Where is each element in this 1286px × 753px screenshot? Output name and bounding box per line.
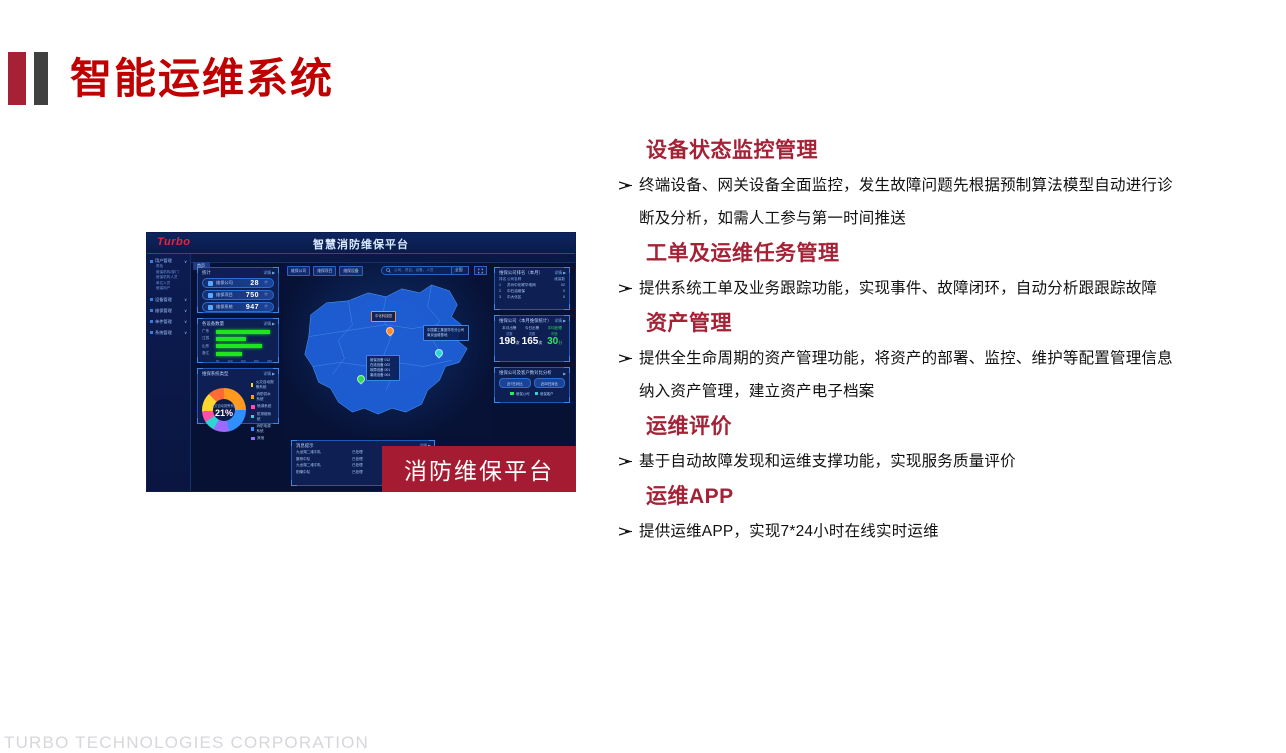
- stat-row: 维保项目 750 个: [202, 290, 274, 300]
- legend-swatch: [251, 383, 253, 387]
- arrow-bullet-icon: [617, 169, 639, 190]
- donut-center-value: 21%: [215, 408, 233, 418]
- expand-icon: [478, 268, 483, 274]
- search-icon: [386, 268, 391, 273]
- section-bullet-text: 终端设备、网关设备全面监控，发生故障问题先根据预制算法模型自动进行诊断及分析，如…: [639, 169, 1187, 235]
- stat-label: 维保系统: [216, 304, 233, 310]
- map-filter-device[interactable]: 维保设备: [339, 266, 362, 276]
- donut-panel: 维保系统类型 详情 ▶ 火灾自动报警系统 21% 火灾自动报警系统 消防供水系统…: [197, 368, 279, 424]
- user-icon: [208, 305, 213, 310]
- legend-swatch: [510, 392, 514, 396]
- kpi-panel-title: 维保公司（本月维保统计）: [499, 318, 552, 324]
- sidebar-item-label: 设备管理: [155, 297, 172, 303]
- bar-chart-panel: 各设备数量 详情 ▶ 广东 江苏 山东 浙江 50 100 150 200 25…: [197, 318, 279, 363]
- bar-more-link[interactable]: 详情 ▶: [263, 321, 275, 327]
- toggle-7day[interactable]: 近7日对比: [499, 378, 531, 388]
- map-tooltip-green: 维保设备 012 在线设备 002 故障设备 001 离线设备 004: [366, 355, 400, 381]
- kpi-item: 本月出警 次数 198次: [498, 326, 521, 347]
- map-fullscreen-button[interactable]: [474, 266, 487, 275]
- section-heading: 运维APP: [646, 480, 1187, 514]
- sidebar-item-label: 系统管理: [155, 330, 172, 336]
- sidebar-group-order[interactable]: 单件管理 ∨: [150, 319, 187, 325]
- sidebar-item-label: 单件管理: [155, 319, 172, 325]
- rank-no: 3: [499, 294, 507, 300]
- stat-label: 维保公司: [216, 280, 233, 286]
- chevron-down-icon: ∨: [184, 308, 187, 313]
- map-filter-project[interactable]: 维保项目: [313, 266, 336, 276]
- legend-swatch: [251, 427, 254, 431]
- legend-label: 维保公司: [516, 392, 530, 396]
- slide-title-block: 智能运维系统: [8, 52, 334, 105]
- bar-row: 江苏: [202, 336, 274, 341]
- sidebar-group-user[interactable]: 用户管理 ∨ 角色 维保机构/部门 维保机构人员 单位人员 维保用户: [150, 258, 187, 292]
- kpi-unit: 次: [538, 340, 542, 345]
- bar-panel-title: 各设备数量: [202, 321, 224, 327]
- dashboard-title: 智慧消防维保平台: [147, 236, 575, 252]
- stat-value: 750: [246, 292, 259, 299]
- axis-tick: 150: [241, 359, 246, 363]
- toggle-30day[interactable]: 近30日对比: [534, 378, 566, 388]
- caption-banner: 消防维保平台: [382, 446, 576, 492]
- dashboard-header: Turbo 智慧消防维保平台: [147, 233, 575, 254]
- axis-tick: 50: [216, 359, 219, 363]
- section-bullet-text: 提供运维APP，实现7*24小时在线实时运维: [639, 515, 1187, 548]
- page-title: 智能运维系统: [70, 52, 334, 105]
- footer-brand: TURBO TECHNOLOGIES CORPORATION: [4, 733, 369, 753]
- sidebar-sub-item[interactable]: 维保用户: [150, 286, 187, 292]
- kpi-value: 198次: [498, 336, 521, 347]
- kpi-unit: 次: [516, 340, 520, 345]
- menu-icon: [150, 260, 153, 263]
- map-search-input[interactable]: 公司、项目、设备、人员: [381, 266, 455, 275]
- sidebar-group-device[interactable]: 设备管理 ∨: [150, 297, 187, 303]
- bar-label: 广东: [202, 329, 213, 334]
- legend-label: 其他: [257, 436, 264, 441]
- kpi-panel: 维保公司（本月维保统计） 详情 ▶ 本月出警 次数 198次 今日出警 次数 1…: [494, 315, 570, 362]
- section-bullet-text: 基于自动故障发现和运维支撑功能，实现服务质量评价: [639, 445, 1187, 478]
- legend-label: 消防供水系统: [256, 392, 274, 402]
- bar-label: 浙江: [202, 351, 213, 356]
- section-bullet-text: 提供全生命周期的资产管理功能，将资产的部署、监控、维护等配置管理信息纳入资产管理…: [639, 342, 1187, 408]
- bar-label: 山东: [202, 344, 213, 349]
- kpi-unit: 分: [558, 340, 562, 345]
- tooltip-line: 南京运维基地: [427, 333, 465, 338]
- arrow-bullet-icon: [617, 272, 639, 293]
- table-row: 3 中大化区 0: [495, 294, 569, 300]
- feature-section: 运维评价 基于自动故障发现和运维支撑功能，实现服务质量评价: [617, 410, 1187, 478]
- arrow-bullet-icon: [617, 515, 639, 536]
- kpi-more-link[interactable]: 详情 ▶: [554, 318, 566, 324]
- legend-label: 防排烟系统: [257, 412, 274, 422]
- compare-panel-title: 维保公司及客户数对比分析: [499, 370, 552, 376]
- rank-count: 0: [551, 294, 565, 300]
- map-region-select[interactable]: 全国: [451, 266, 469, 275]
- bar-row: 山东: [202, 344, 274, 349]
- stat-unit: 个: [264, 304, 268, 310]
- compare-toggles[interactable]: 近7日对比 近30日对比: [495, 376, 569, 390]
- bar-label: 江苏: [202, 336, 213, 341]
- donut-legend: 火灾自动报警系统 消防供水系统 喷淋系统 防排烟系统 消防电源系统 其他: [251, 380, 274, 441]
- legend-item: 维保客户: [535, 391, 554, 396]
- gear-icon: [150, 331, 153, 334]
- legend-item: 消防电源系统: [251, 424, 274, 434]
- chevron-down-icon: ∨: [184, 330, 187, 335]
- bar-chart: 广东 江苏 山东 浙江 50 100 150 200 250: [198, 327, 278, 363]
- kpi-value: 165次: [521, 336, 544, 347]
- legend-item: 火灾自动报警系统: [251, 380, 274, 390]
- stat-row: 维保系统 947 个: [202, 302, 274, 312]
- title-accent-bar-gray: [34, 52, 48, 105]
- legend-item: 维保公司: [510, 391, 529, 396]
- stats-panel: 统计 详情 ▶ 维保公司 28 个 维保项目 750 个 维保系统 947 个: [197, 267, 279, 313]
- china-map[interactable]: 维保公司 维保项目 维保设备 公司、项目、设备、人员 全国 中化科技园 中国建工…: [283, 263, 491, 437]
- stat-unit: 个: [264, 280, 268, 286]
- legend-item: 防排烟系统: [251, 412, 274, 422]
- order-icon: [150, 320, 153, 323]
- feature-section: 工单及运维任务管理 提供系统工单及业务跟踪功能，实现事件、故障闭环，自动分析跟跟…: [617, 237, 1187, 305]
- chevron-down-icon: ∨: [184, 297, 187, 302]
- feature-sections: 设备状态监控管理 终端设备、网关设备全面监控，发生故障问题先根据预制算法模型自动…: [617, 134, 1187, 550]
- donut-panel-title: 维保系统类型: [202, 371, 228, 377]
- kpi-item: 今日出警 次数 165次: [521, 326, 544, 347]
- section-heading: 资产管理: [646, 307, 1187, 341]
- stats-more-link[interactable]: 详情 ▶: [263, 270, 275, 276]
- bar-row: 广东: [202, 329, 274, 334]
- building-icon: [208, 281, 213, 286]
- kpi-value: 30分: [543, 336, 566, 347]
- donut-more-link[interactable]: 详情 ▶: [263, 371, 275, 377]
- map-tooltip-orange: 中化科技园: [371, 311, 396, 322]
- stat-row: 维保公司 28 个: [202, 278, 274, 288]
- rank-panel: 维保公司排名（本月） 详情 ▶ 排名 公司名称 维保数 1 苏州中化联华电网 0…: [494, 267, 570, 310]
- feature-section: 资产管理 提供全生命周期的资产管理功能，将资产的部署、监控、维护等配置管理信息纳…: [617, 307, 1187, 408]
- feature-section: 设备状态监控管理 终端设备、网关设备全面监控，发生故障问题先根据预制算法模型自动…: [617, 134, 1187, 235]
- msg-source: 阳曦中队: [296, 469, 352, 476]
- map-search-placeholder: 公司、项目、设备、人员: [394, 268, 434, 273]
- compare-more-link[interactable]: ▶: [563, 371, 566, 376]
- device-icon: [150, 298, 153, 301]
- map-filter-company[interactable]: 维保公司: [287, 266, 310, 276]
- stat-unit: 个: [264, 292, 268, 298]
- legend-item: 其他: [251, 436, 274, 441]
- legend-swatch: [251, 405, 255, 409]
- legend-label: 消防电源系统: [256, 424, 274, 434]
- dashboard-sidebar[interactable]: 用户管理 ∨ 角色 维保机构/部门 维保机构人员 单位人员 维保用户 设备管理 …: [147, 254, 191, 492]
- rank-company: 中大化区: [507, 294, 551, 300]
- legend-label: 维保客户: [540, 392, 554, 396]
- legend-label: 火灾自动报警系统: [256, 380, 274, 390]
- donut-chart: 火灾自动报警系统 21%: [202, 388, 246, 432]
- stats-panel-title: 统计: [202, 270, 211, 276]
- map-filters[interactable]: 维保公司 维保项目 维保设备: [287, 266, 363, 276]
- dashboard-tabstrip[interactable]: 首页: [191, 254, 575, 263]
- stat-label: 维保项目: [216, 292, 233, 298]
- stat-value: 947: [246, 304, 259, 311]
- sidebar-group-system[interactable]: 系统管理 ∨: [150, 330, 187, 336]
- tooltip-line: 离线设备 004: [370, 373, 396, 378]
- title-accent-bar-red: [8, 52, 26, 105]
- arrow-bullet-icon: [617, 445, 639, 466]
- home-icon: [208, 293, 213, 298]
- sidebar-group-maint[interactable]: 维保管理 ∨: [150, 308, 187, 314]
- wrench-icon: [150, 309, 153, 312]
- legend-item: 消防供水系统: [251, 392, 274, 402]
- compare-panel: 维保公司及客户数对比分析 ▶ 近7日对比 近30日对比 维保公司 维保客户: [494, 367, 570, 403]
- compare-legend: 维保公司 维保客户: [495, 390, 569, 396]
- chevron-down-icon: ∨: [184, 319, 187, 324]
- legend-label: 喷淋系统: [257, 404, 271, 409]
- section-heading: 工单及运维任务管理: [646, 237, 1187, 271]
- sidebar-item-label: 维保管理: [155, 308, 172, 314]
- kpi-item: 平均处理 时长 30分: [543, 326, 566, 347]
- legend-swatch: [251, 437, 255, 441]
- bar-axis: 50 100 150 200 250: [202, 359, 274, 363]
- bar-row: 浙江: [202, 351, 274, 356]
- legend-swatch: [251, 415, 254, 419]
- section-heading: 运维评价: [646, 410, 1187, 444]
- section-heading: 设备状态监控管理: [646, 134, 1187, 168]
- axis-tick: 250: [267, 359, 272, 363]
- axis-tick: 200: [254, 359, 259, 363]
- chevron-down-icon: ∨: [184, 259, 187, 264]
- map-tooltip-cyan: 中国建工集团华东分公司 南京运维基地: [423, 325, 469, 341]
- legend-swatch: [535, 392, 539, 396]
- legend-swatch: [251, 395, 254, 399]
- legend-item: 喷淋系统: [251, 404, 274, 409]
- arrow-bullet-icon: [617, 342, 639, 363]
- feature-section: 运维APP 提供运维APP，实现7*24小时在线实时运维: [617, 480, 1187, 548]
- stat-value: 28: [250, 280, 259, 287]
- axis-tick: 100: [227, 359, 232, 363]
- section-bullet-text: 提供系统工单及业务跟踪功能，实现事件、故障闭环，自动分析跟跟踪故障: [639, 272, 1187, 305]
